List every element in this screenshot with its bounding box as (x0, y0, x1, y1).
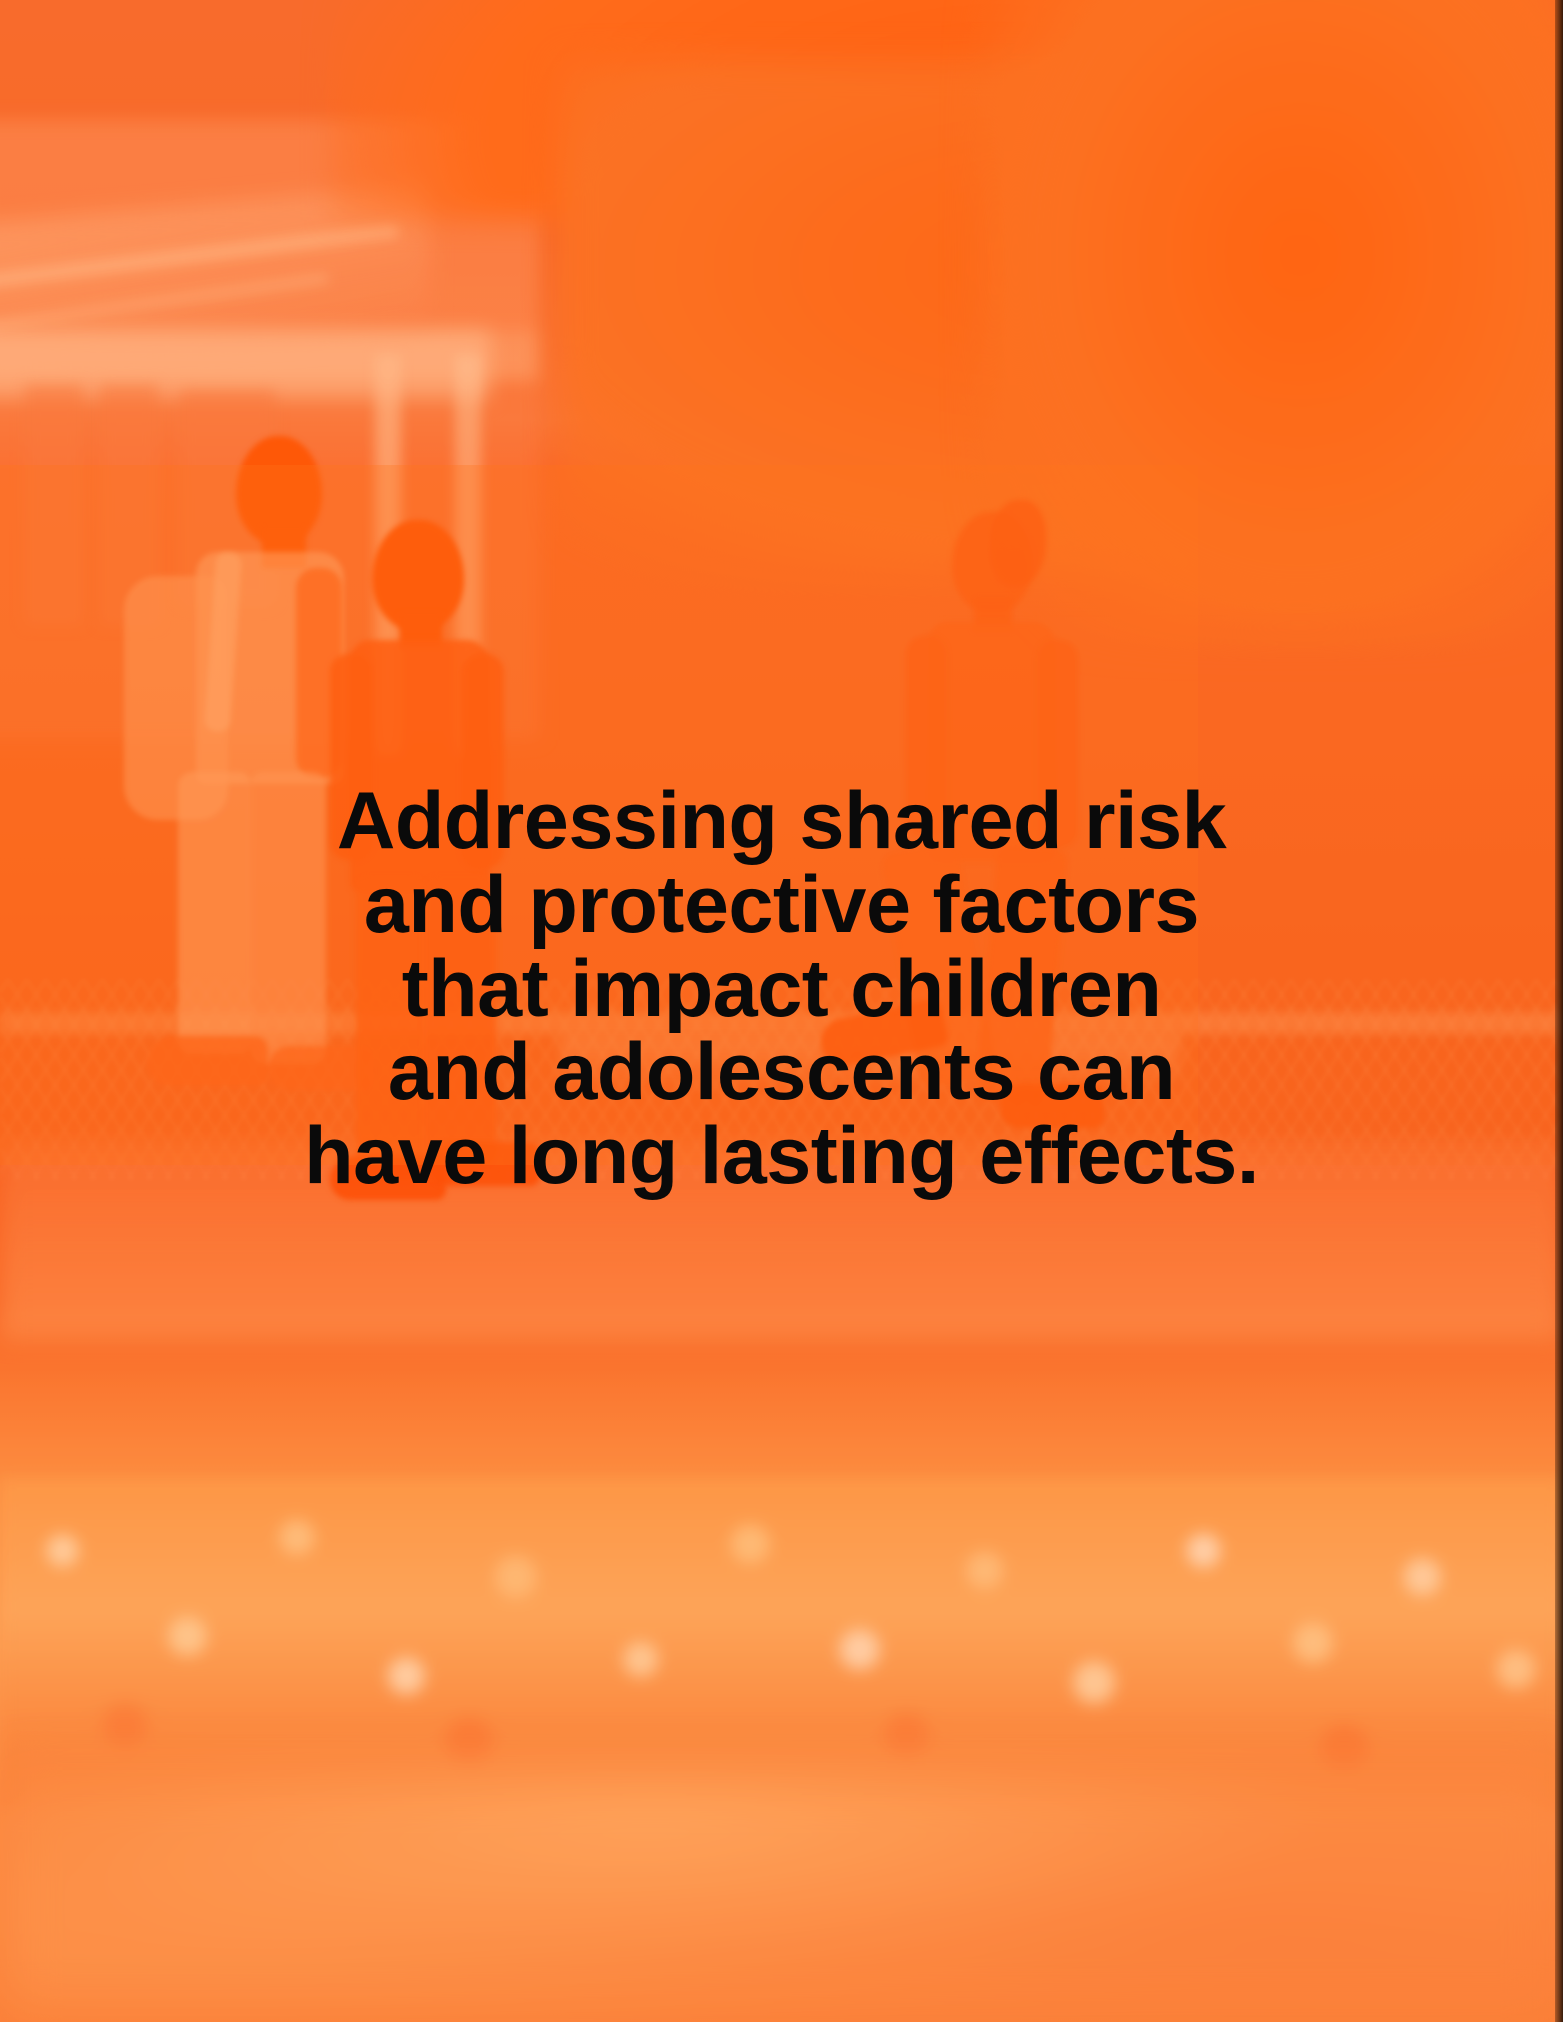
headline: Addressing shared risk and protective fa… (0, 780, 1563, 1199)
headline-line-5: have long lasting effects. (150, 1115, 1413, 1199)
headline-line-2: and protective factors (150, 864, 1413, 948)
headline-line-1: Addressing shared risk (150, 780, 1413, 864)
house-window-left (25, 385, 83, 625)
student-ponytail-hair (990, 500, 1046, 586)
headline-line-4: and adolescents can (150, 1031, 1413, 1115)
poster-canvas: Addressing shared risk and protective fa… (0, 0, 1563, 2022)
tree-canopy-right (980, 0, 1563, 640)
headline-line-3: that impact children (150, 948, 1413, 1032)
gravel-path-band (0, 1478, 1563, 1808)
foreground-blur (0, 1770, 1563, 2022)
